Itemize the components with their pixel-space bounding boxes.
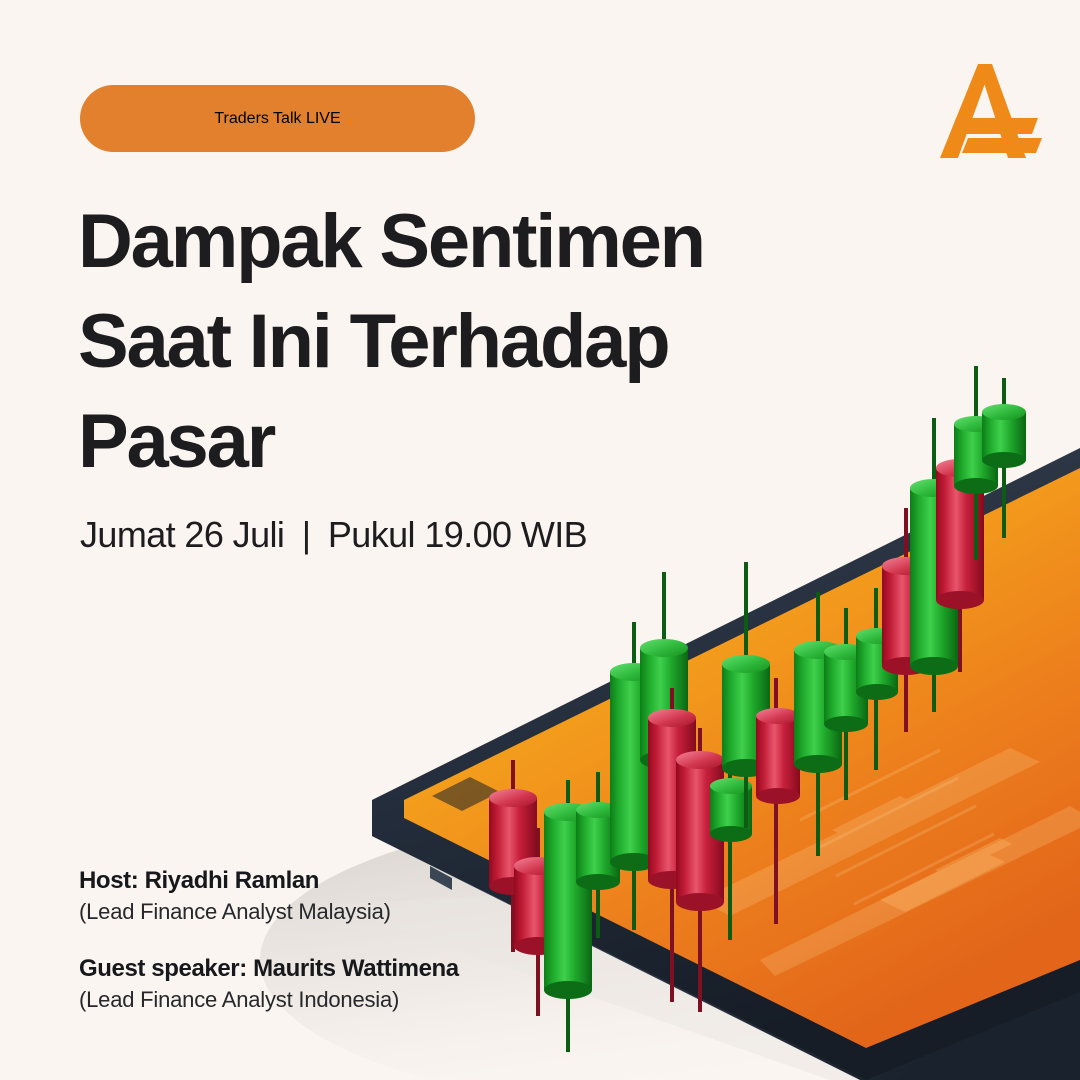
- host-credit: Host: Riyadhi Ramlan (Lead Finance Analy…: [79, 866, 459, 928]
- host-name: Host: Riyadhi Ramlan: [79, 866, 459, 896]
- schedule-separator: |: [302, 514, 311, 556]
- guest-name: Guest speaker: Maurits Wattimena: [79, 954, 459, 984]
- event-schedule: Jumat 26 Juli | Pukul 19.00 WIB: [80, 514, 587, 556]
- speaker-credits: Host: Riyadhi Ramlan (Lead Finance Analy…: [79, 866, 459, 1016]
- host-role: (Lead Finance Analyst Malaysia): [79, 896, 459, 928]
- event-date: Jumat 26 Juli: [80, 514, 284, 555]
- guest-role: (Lead Finance Analyst Indonesia): [79, 984, 459, 1016]
- guest-credit: Guest speaker: Maurits Wattimena (Lead F…: [79, 954, 459, 1016]
- event-time: Pukul 19.00 WIB: [328, 514, 587, 555]
- poster-canvas: Traders Talk LIVE Dampak Sentimen Saat I…: [0, 0, 1080, 1080]
